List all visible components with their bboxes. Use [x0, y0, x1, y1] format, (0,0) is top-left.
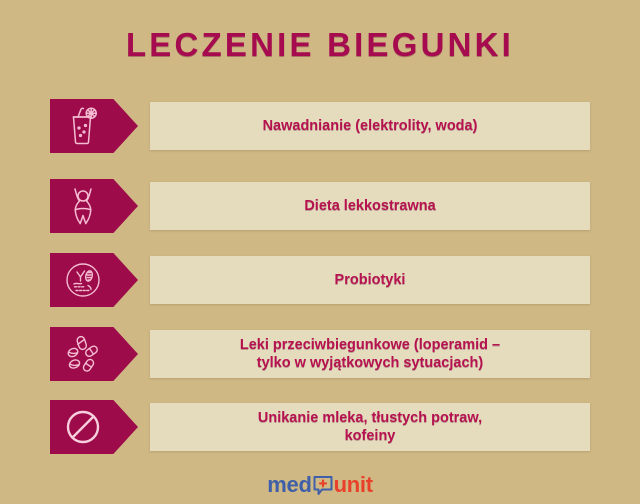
list-item-label: Unikanie mleka, tłustych potraw, kofeiny [250, 409, 490, 445]
infographic-poster: LECZENIE BIEGUNKI [0, 0, 640, 504]
pills-capsules-icon [64, 334, 102, 374]
brand-logo: med unit [0, 474, 640, 496]
page-title: LECZENIE BIEGUNKI [0, 26, 640, 64]
list-item-label: Nawadnianie (elektrolity, woda) [255, 117, 486, 135]
row-icon-badge [50, 99, 138, 153]
list-item: Dieta lekkostrawna [0, 178, 640, 234]
text-bar: Nawadnianie (elektrolity, woda) [150, 102, 590, 150]
drinking-glass-icon [64, 106, 102, 146]
list-item: Nawadnianie (elektrolity, woda) [0, 98, 640, 154]
list-item-label: Dieta lekkostrawna [296, 197, 443, 215]
logo-word-unit: unit [334, 474, 373, 496]
text-bar: Dieta lekkostrawna [150, 182, 590, 230]
text-bar: Probiotyki [150, 256, 590, 304]
speech-bubble-plus-icon [312, 475, 334, 497]
row-icon-badge [50, 400, 138, 454]
row-icon-badge [50, 179, 138, 233]
list-item-label: Leki przeciwbiegunkowe (loperamid – tylk… [232, 336, 508, 372]
slim-waist-icon [64, 186, 102, 226]
row-icon-badge [50, 327, 138, 381]
prohibition-sign-icon [64, 407, 102, 447]
row-icon-badge [50, 253, 138, 307]
logo-word-med: med [267, 474, 311, 496]
text-bar: Unikanie mleka, tłustych potraw, kofeiny [150, 403, 590, 451]
list-item: Probiotyki [0, 252, 640, 308]
list-item-label: Probiotyki [327, 271, 414, 289]
list-item: Leki przeciwbiegunkowe (loperamid – tylk… [0, 326, 640, 382]
list-item: Unikanie mleka, tłustych potraw, kofeiny [0, 399, 640, 455]
probiotic-bacteria-icon [64, 260, 102, 300]
text-bar: Leki przeciwbiegunkowe (loperamid – tylk… [150, 330, 590, 378]
